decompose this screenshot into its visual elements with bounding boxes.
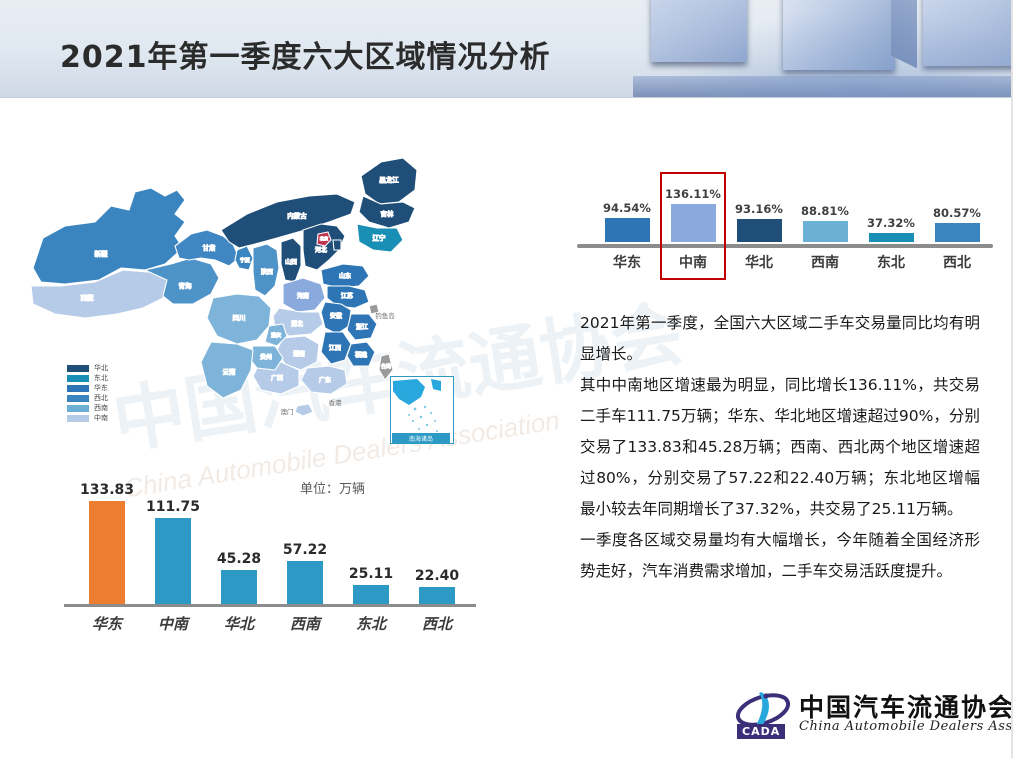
growth-bar [605,218,650,242]
svg-text:西藏: 西藏 [81,293,95,302]
volume-chart-plot: 133.83 111.75 45.28 57.22 25.11 22.40 [60,468,480,608]
svg-text:北京: 北京 [320,235,328,242]
svg-text:云南: 云南 [223,367,237,376]
volume-category-label: 东北 [338,613,404,634]
map-label-hongkong: 香港 [329,398,343,407]
analysis-paragraph: 一季度各区域交易量均有大幅增长，今年随着全国经济形势走好，汽车消费需求增加，二手… [580,525,980,587]
logo-en-text: China Automobile Dealers Association [799,719,1013,734]
legend-swatch [67,375,89,382]
volume-bar-group: 133.83 [74,469,140,605]
growth-category-label: 西北 [924,252,990,272]
volume-bar-value: 22.40 [415,568,459,584]
page-title: 2021年第一季度六大区域情况分析 [60,32,551,76]
volume-bar-group: 57.22 [272,469,338,605]
slide-header: 2021年第一季度六大区域情况分析 [0,0,1013,98]
svg-text:山西: 山西 [285,258,297,266]
svg-text:山东: 山东 [339,272,351,280]
growth-category-label: 华东 [594,252,660,272]
growth-bar-value: 88.81% [801,204,849,218]
growth-chart-categories: 华东 中南 华北 西南 东北 西北 [575,252,995,278]
legend-swatch [67,415,89,422]
growth-bar-value: 37.32% [867,216,915,230]
volume-bar [419,587,455,605]
map-legend: 华北 东北 华东 西北 西南 中南 [67,364,108,424]
svg-text:贵州: 贵州 [260,353,272,361]
svg-text:四川: 四川 [233,314,246,322]
svg-text:天津: 天津 [341,244,351,251]
growth-chart: 94.54% 136.11% 93.16% 88.81% 37.32% 80.5… [575,160,995,285]
svg-text:辽宁: 辽宁 [373,233,387,242]
volume-bar-group: 45.28 [206,469,272,605]
growth-category-label: 东北 [858,252,924,272]
cada-abbr-badge: CADA [737,724,785,739]
legend-item: 西北 [67,394,108,403]
growth-chart-axis [577,244,993,248]
volume-bar-value: 45.28 [217,551,261,567]
header-glow [633,0,1013,98]
legend-item: 中南 [67,414,108,423]
svg-text:福建: 福建 [355,351,367,359]
growth-bar-group: 80.57% [924,158,990,242]
volume-bar [221,570,257,605]
svg-text:江西: 江西 [329,345,341,352]
map-label-macau: 澳门 [281,407,294,416]
growth-bar-group: 93.16% [726,158,792,242]
analysis-paragraph: 2021年第一季度，全国六大区域二手车交易量同比均有明显增长。 [580,308,980,370]
growth-bar [737,219,782,242]
svg-text:吉林: 吉林 [381,209,395,218]
volume-category-label: 西北 [404,613,470,634]
legend-item: 西南 [67,404,108,413]
legend-swatch [67,405,89,412]
legend-label: 东北 [94,375,108,382]
volume-bar [155,518,191,605]
volume-bar-group: 22.40 [404,469,470,605]
analysis-text: 2021年第一季度，全国六大区域二手车交易量同比均有明显增长。 其中中南地区增速… [580,308,980,587]
growth-chart-plot: 94.54% 136.11% 93.16% 88.81% 37.32% 80.5… [575,160,995,246]
svg-text:黑龙江: 黑龙江 [379,175,399,184]
svg-text:安徽: 安徽 [330,312,342,320]
legend-swatch [67,395,89,402]
volume-chart-categories: 华东 中南 华北 西南 东北 西北 [60,613,480,639]
svg-text:江苏: 江苏 [341,292,353,300]
growth-category-label: 华北 [726,252,792,272]
growth-bar-value: 93.16% [735,202,783,216]
volume-bar [287,561,323,605]
svg-text:浙江: 浙江 [356,323,368,331]
svg-text:陕西: 陕西 [261,268,273,276]
volume-bar [89,501,125,605]
analysis-paragraph: 其中中南地区增速最为明显，同比增长136.11%，共交易二手车111.75万辆；… [580,370,980,525]
svg-text:甘肃: 甘肃 [203,243,217,252]
legend-label: 华东 [94,385,108,392]
legend-label: 西南 [94,405,108,412]
cada-logo: CADA 中国汽车流通协会 China Automobile Dealers A… [735,686,997,744]
inset-map-label: 南海诸岛 [392,433,450,444]
volume-category-label: 西南 [272,613,338,634]
growth-bar-group: 88.81% [792,158,858,242]
legend-label: 中南 [94,415,108,422]
svg-text:河北: 河北 [315,246,327,254]
svg-text:湖南: 湖南 [293,350,305,358]
volume-bar-group: 25.11 [338,469,404,605]
legend-label: 西北 [94,395,108,402]
growth-bar-value: 94.54% [603,201,651,215]
growth-bar [869,233,914,242]
legend-label: 华北 [94,365,108,372]
growth-bar-value: 80.57% [933,206,981,220]
volume-chart-axis [64,604,476,607]
volume-category-label: 华北 [206,613,272,634]
highlight-box-zhongnan [660,172,726,280]
growth-bar [803,221,848,242]
svg-text:河南: 河南 [297,292,309,300]
svg-text:湖北: 湖北 [291,320,303,328]
volume-bar [353,585,389,605]
volume-bar-value: 57.22 [283,542,327,558]
svg-text:新疆: 新疆 [95,249,109,258]
legend-item: 华东 [67,384,108,393]
legend-item: 东北 [67,374,108,383]
header-cubes-graphic [633,0,1013,98]
svg-text:宁夏: 宁夏 [240,257,250,264]
volume-category-label: 中南 [140,613,206,634]
svg-text:广西: 广西 [271,374,283,382]
growth-bar [935,223,980,242]
growth-bar-group: 94.54% [594,158,660,242]
volume-bar-group: 111.75 [140,469,206,605]
slide: 2021年第一季度六大区域情况分析 中国汽车流通协会 China Automob… [0,0,1013,758]
legend-swatch [67,385,89,392]
svg-text:广东: 广东 [319,376,331,384]
growth-category-label: 西南 [792,252,858,272]
volume-chart: 133.83 111.75 45.28 57.22 25.11 22.40 [60,468,480,643]
svg-text:台湾: 台湾 [381,363,391,370]
svg-text:内蒙古: 内蒙古 [287,211,307,220]
volume-bar-value: 25.11 [349,566,393,582]
growth-bar-group: 37.32% [858,158,924,242]
svg-text:重庆: 重庆 [271,332,281,339]
volume-category-label: 华东 [74,613,140,634]
legend-swatch [67,365,89,372]
svg-text:青海: 青海 [179,281,193,290]
legend-item: 华北 [67,364,108,373]
volume-bar-value: 133.83 [80,482,134,498]
map-label-diaoyu: 钓鱼岛 [375,311,395,320]
volume-bar-value: 111.75 [146,499,200,515]
header-divider [0,97,1013,98]
